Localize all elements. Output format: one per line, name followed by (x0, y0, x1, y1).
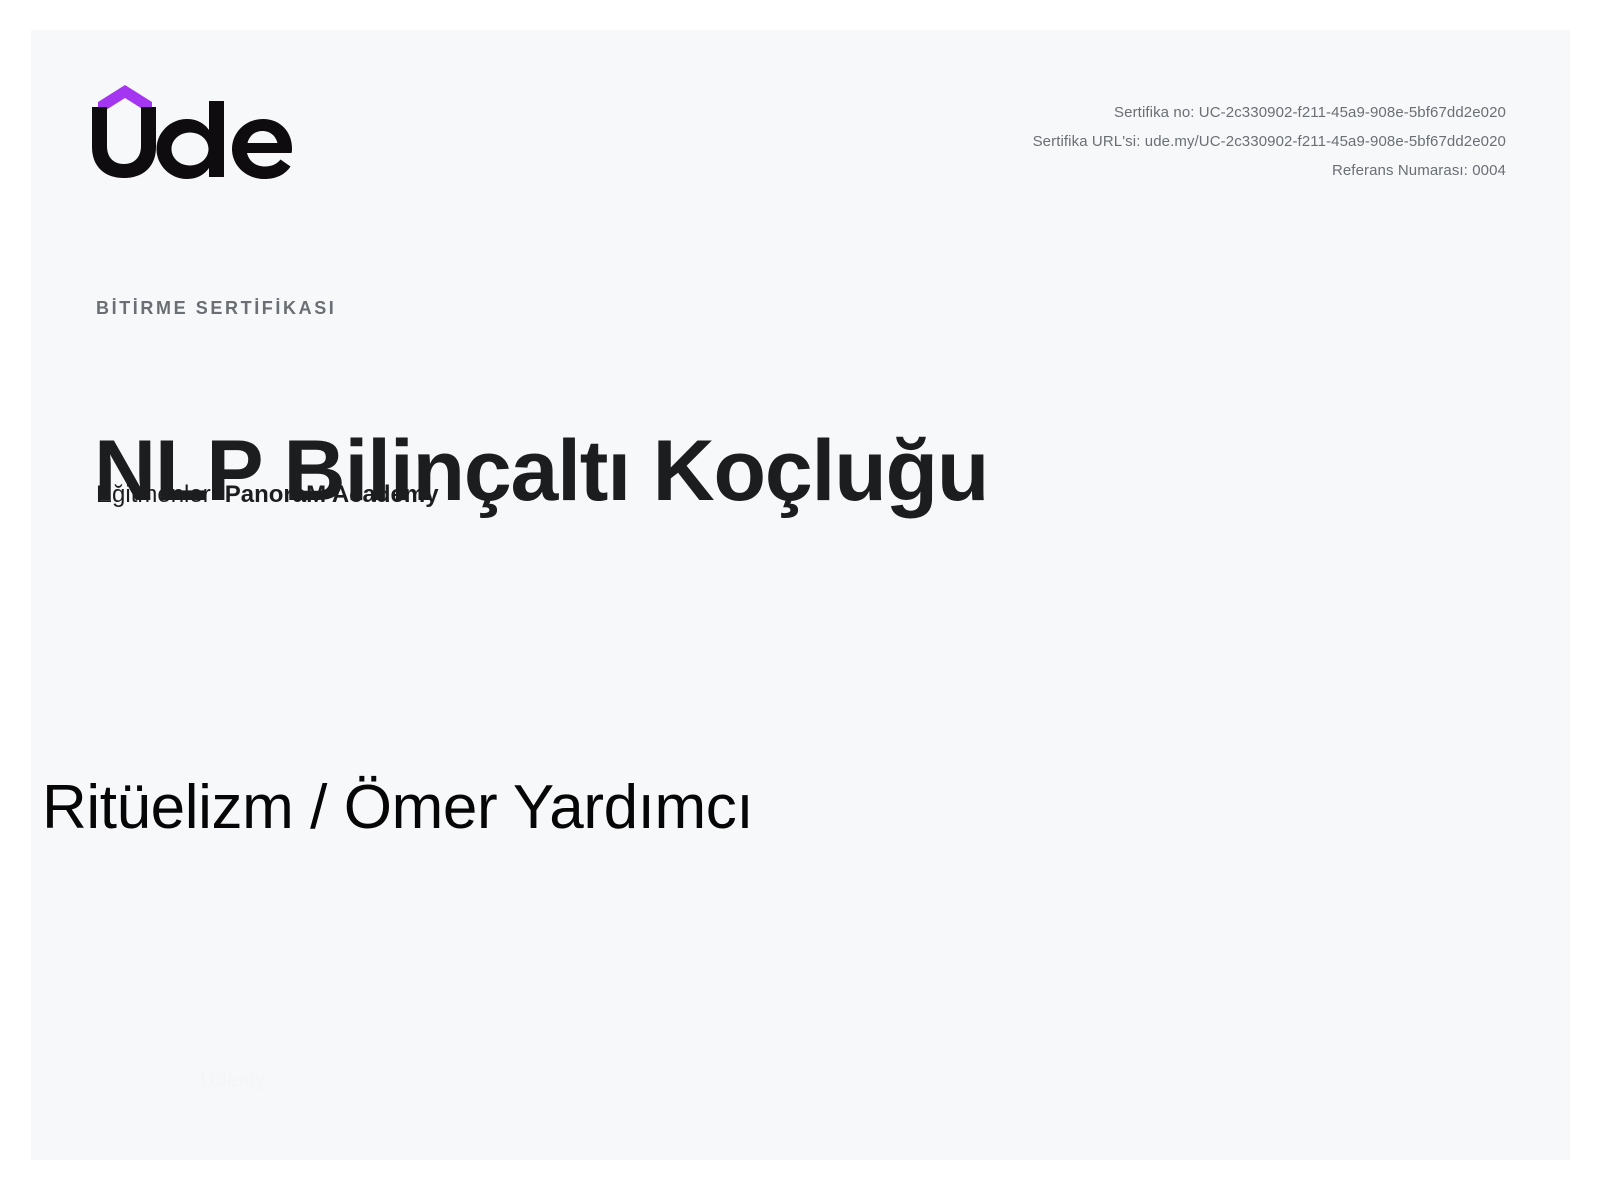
certificate-type-label: BİTİRME SERTİFİKASI (96, 298, 336, 319)
recipient-name: Ritüelizm / Ömer Yardımcı (42, 768, 753, 848)
certificate-body: BİTİRME SERTİFİKASI NLP Bilinçaltı Koçlu… (31, 30, 1570, 1160)
instructors-line: EğitmenlerPanoraM Academy (96, 478, 439, 512)
certificate-page: Sertifika no: UC-2c330902-f211-45a9-908e… (31, 30, 1570, 1160)
instructors-label: Eğitmenler (96, 481, 211, 508)
udemy-watermark: Udemy (201, 1070, 266, 1092)
instructors-names: PanoraM Academy (225, 481, 439, 508)
